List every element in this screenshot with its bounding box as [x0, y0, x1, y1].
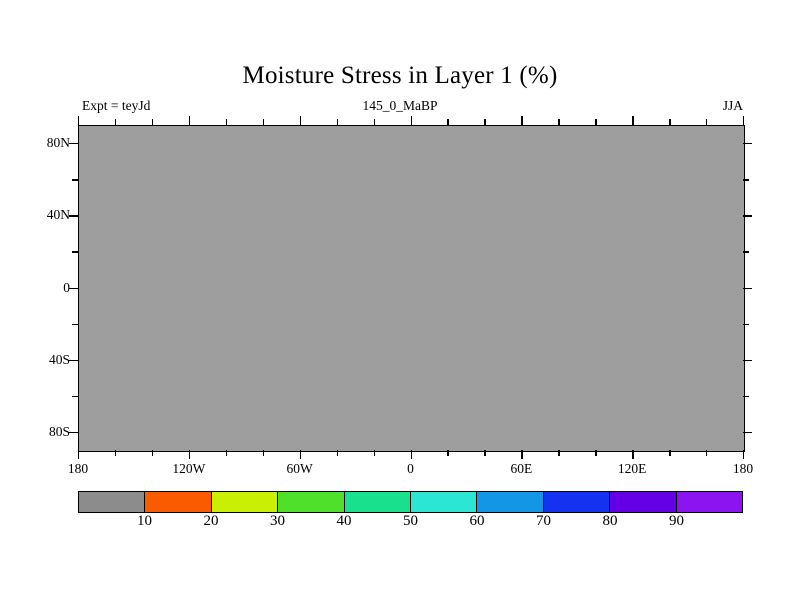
x-axis-tick: [337, 450, 338, 456]
x-axis-tick: [484, 450, 485, 456]
colorbar-band: [144, 492, 210, 512]
y-axis-tick: [69, 288, 78, 289]
x-axis-tick: [115, 119, 116, 125]
x-axis-tick: [374, 119, 375, 125]
x-axis-label: 60E: [510, 461, 532, 477]
x-axis-tick: [226, 450, 227, 456]
colorbar-tick-label: 30: [270, 513, 285, 530]
colorbar-tick-label: 70: [536, 513, 551, 530]
x-axis-tick: [743, 450, 744, 459]
colorbar-band: [277, 492, 343, 512]
x-axis-tick: [743, 116, 744, 125]
y-axis-tick: [72, 324, 78, 325]
colorbar-tick-label: 20: [204, 513, 219, 530]
colorbar-band: [543, 492, 609, 512]
colorbar-band: [410, 492, 476, 512]
x-axis-label: 0: [407, 461, 414, 477]
colorbar-band: [676, 492, 742, 512]
y-axis-tick: [69, 143, 78, 144]
x-axis-tick: [558, 450, 559, 456]
y-axis-tick: [69, 432, 78, 433]
x-axis-tick: [300, 116, 301, 125]
y-axis-tick: [743, 396, 749, 397]
colorbar-bands: [78, 491, 743, 513]
x-axis-tick: [521, 450, 522, 459]
colorbar-tick-label: 80: [603, 513, 618, 530]
x-axis-tick: [669, 450, 670, 456]
x-axis-tick: [374, 450, 375, 456]
colorbar-tick-label: 90: [669, 513, 684, 530]
colorbar-band: [609, 492, 675, 512]
y-axis-tick: [72, 251, 78, 252]
y-axis-tick: [743, 179, 749, 180]
colorbar-tick-labels: 102030405060708090: [78, 513, 743, 539]
y-axis-tick: [743, 251, 749, 252]
x-axis-tick: [447, 119, 448, 125]
y-axis-label: 40N: [47, 207, 70, 223]
x-axis-tick: [226, 119, 227, 125]
experiment-label: Expt = teyJd: [82, 98, 150, 114]
colorbar-band: [79, 492, 144, 512]
x-axis-label: 180: [733, 461, 753, 477]
y-axis-tick: [743, 432, 752, 433]
x-axis-tick: [300, 450, 301, 459]
x-axis-tick: [558, 119, 559, 125]
x-axis-tick: [595, 119, 596, 125]
y-axis-label: 80S: [49, 424, 70, 440]
x-axis-tick: [669, 119, 670, 125]
x-axis-tick: [632, 116, 633, 125]
colorbar-tick-label: 50: [403, 513, 418, 530]
y-axis-tick: [72, 396, 78, 397]
y-axis-tick: [743, 360, 752, 361]
map-plot-area: [78, 125, 745, 452]
season-label: JJA: [723, 98, 743, 114]
x-axis-tick: [411, 450, 412, 459]
colorbar-band: [476, 492, 542, 512]
x-axis-tick: [706, 119, 707, 125]
moisture-stress-heatmap: [79, 126, 744, 451]
x-axis-tick: [115, 450, 116, 456]
y-axis-tick: [743, 324, 749, 325]
x-axis-tick: [706, 450, 707, 456]
x-axis-label: 180: [68, 461, 88, 477]
colorbar-tick-label: 10: [137, 513, 152, 530]
y-axis-tick: [69, 215, 78, 216]
y-axis-tick: [743, 143, 752, 144]
x-axis-tick: [263, 119, 264, 125]
x-axis-tick: [78, 116, 79, 125]
y-axis-label: 40S: [49, 352, 70, 368]
colorbar-tick-label: 60: [470, 513, 485, 530]
x-axis-tick: [152, 450, 153, 456]
y-axis-label: 80N: [47, 135, 70, 151]
y-axis-label: 0: [63, 280, 70, 296]
x-axis-tick: [595, 450, 596, 456]
x-axis-tick: [632, 450, 633, 459]
y-axis-tick: [743, 288, 752, 289]
x-axis-tick: [189, 450, 190, 459]
y-axis-tick: [72, 179, 78, 180]
page-title: Moisture Stress in Layer 1 (%): [0, 62, 800, 90]
x-axis-label: 120W: [172, 461, 205, 477]
x-axis-tick: [152, 119, 153, 125]
x-axis-label: 60W: [287, 461, 313, 477]
colorbar: [78, 491, 743, 513]
x-axis-tick: [521, 116, 522, 125]
y-axis-tick: [743, 215, 752, 216]
colorbar-tick-label: 40: [337, 513, 352, 530]
figure-root: Moisture Stress in Layer 1 (%) 145_0_MaB…: [0, 0, 800, 600]
x-axis-tick: [447, 450, 448, 456]
x-axis-tick: [189, 116, 190, 125]
colorbar-band: [211, 492, 277, 512]
x-axis-tick: [484, 119, 485, 125]
x-axis-label: 120E: [618, 461, 647, 477]
y-axis-tick: [69, 360, 78, 361]
x-axis-tick: [78, 450, 79, 459]
colorbar-band: [344, 492, 410, 512]
x-axis-tick: [263, 450, 264, 456]
x-axis-tick: [337, 119, 338, 125]
x-axis-tick: [411, 116, 412, 125]
